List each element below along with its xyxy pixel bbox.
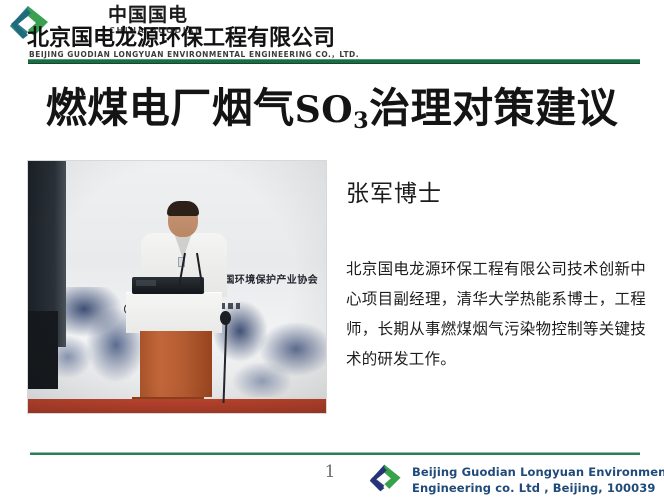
slide-header: 中国国电 CHINA GUODIAN 北京国电龙源环保工程有限公司 BEIJIN…	[0, 0, 664, 66]
page-number: 1	[318, 462, 342, 482]
footer-company-name: Beijing Guodian Longyuan Environmental E…	[412, 464, 664, 496]
footer-company-line-1: Beijing Guodian Longyuan Environmental	[412, 464, 664, 480]
formula-base: SO	[295, 89, 353, 131]
title-suffix: 治理对策建议	[369, 84, 618, 132]
speaker-name: 张军博士	[346, 181, 442, 209]
header-divider	[28, 59, 640, 64]
title-prefix: 燃煤电厂烟气	[46, 84, 295, 132]
title-formula: SO3	[295, 89, 369, 131]
formula-subscript: 3	[353, 108, 369, 134]
presentation-slide: 中国国电 CHINA GUODIAN 北京国电龙源环保工程有限公司 BEIJIN…	[0, 0, 664, 502]
photo-vignette	[28, 161, 326, 413]
speaker-bio: 北京国电龙源环保工程有限公司技术创新中心项目副经理，清华大学热能系博士，工程师，…	[346, 254, 646, 374]
guodian-diamond-logo-icon	[368, 463, 404, 497]
footer-company-line-2: Engineering co. Ltd , Beijing, 100039	[412, 480, 664, 496]
footer-divider	[30, 452, 640, 455]
company-name-cn: 北京国电龙源环保工程有限公司	[27, 28, 335, 50]
speaker-photo: 中国环境保护产业协会	[28, 161, 326, 413]
company-name-en: BEIJING GUODIAN LONGYUAN ENVIRONMENTAL E…	[29, 51, 359, 59]
brand-name-cn: 中国国电	[108, 6, 188, 25]
page-title: 燃煤电厂烟气SO3治理对策建议	[0, 84, 664, 145]
